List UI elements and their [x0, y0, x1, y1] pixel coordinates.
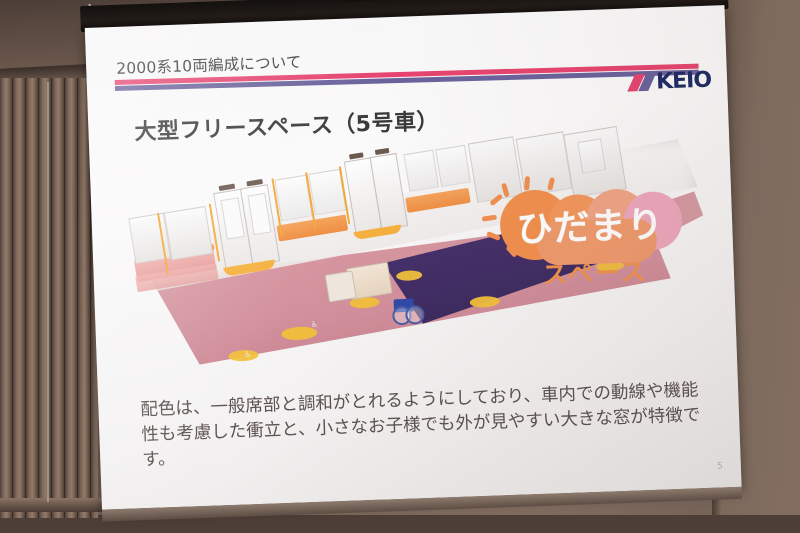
- blind-slat[interactable]: [26, 78, 39, 518]
- partition-left-2: [164, 206, 213, 260]
- end-door-window: [577, 138, 606, 173]
- car-window: [435, 145, 471, 187]
- floor-marker-icon: ♿: [311, 320, 319, 329]
- projection-screen: 2000系10両編成について KEIO 大型フリースペース（5号車）: [85, 5, 742, 510]
- keio-logo-text: KEIO: [656, 68, 712, 95]
- blind-cord-icon[interactable]: [47, 82, 49, 502]
- sun-ray-icon: [547, 177, 555, 191]
- keio-logo: KEIO: [631, 68, 712, 96]
- luggage-box: [325, 270, 357, 302]
- blind-bottom-rail: [0, 498, 104, 512]
- blind-slat[interactable]: [13, 78, 26, 518]
- slide-body-text: 配色は、一般席部と調和がとれるようにしており、車内での動線や機能性も考慮した衝立…: [140, 378, 708, 473]
- blind-slat[interactable]: [0, 78, 13, 518]
- slide-title: 大型フリースペース（5号車）: [134, 103, 440, 146]
- page-number: 5: [717, 461, 723, 471]
- blind-slat[interactable]: [39, 78, 52, 518]
- vertical-blinds[interactable]: [0, 78, 98, 518]
- wheelchair-wheel: [405, 305, 425, 325]
- floor-marker-icon: ♿: [244, 350, 252, 359]
- car-window: [403, 150, 439, 192]
- sun-ray-icon: [486, 231, 501, 241]
- slide-content: 2000系10両編成について KEIO 大型フリースペース（5号車）: [85, 5, 742, 510]
- projection-screen-assembly: 2000系10両編成について KEIO 大型フリースペース（5号車）: [84, 0, 738, 522]
- hidamari-space-logo: ひだまり スペース: [481, 175, 685, 302]
- roller-mount-icon: [342, 0, 396, 2]
- sun-ray-icon: [482, 215, 498, 222]
- blind-slat[interactable]: [65, 78, 78, 518]
- blind-slat[interactable]: [52, 78, 65, 518]
- wheelchair-icon: [387, 294, 423, 326]
- sun-ray-icon: [524, 176, 530, 190]
- hidamari-text: ひだまり: [501, 189, 679, 259]
- space-text: スペース: [509, 251, 680, 293]
